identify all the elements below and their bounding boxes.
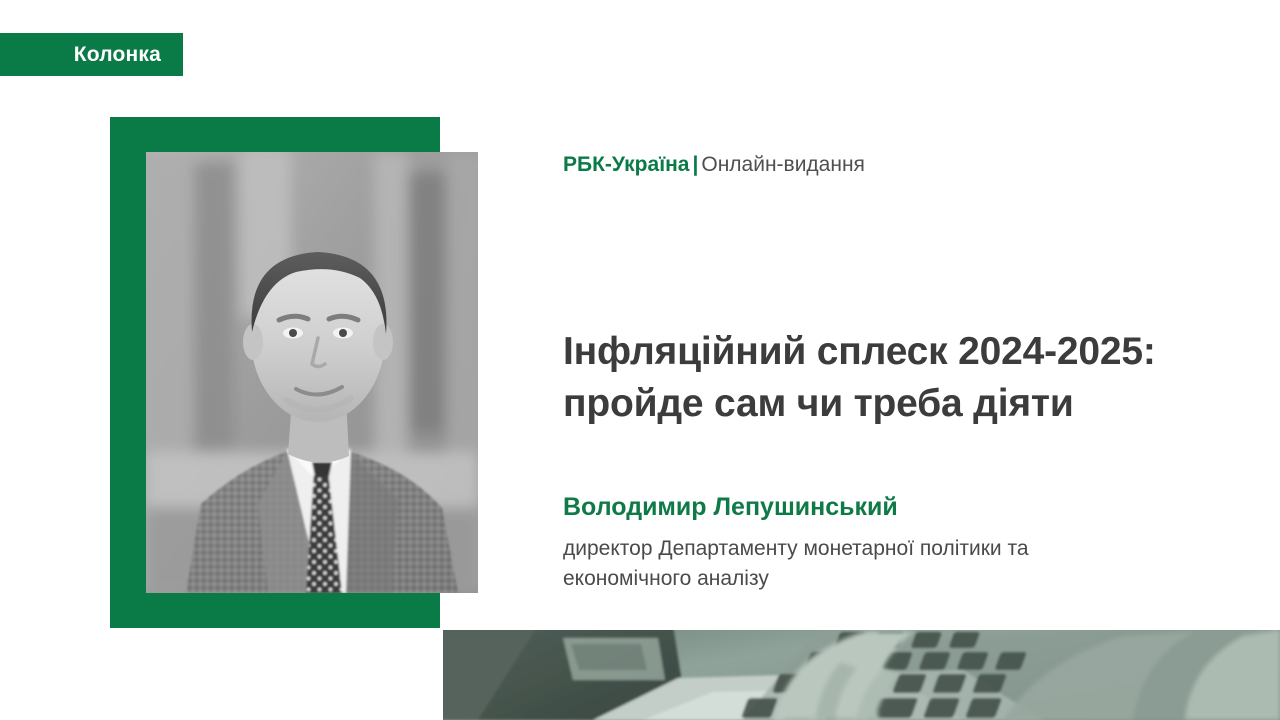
author-title: директор Департаменту монетарної політик… <box>563 534 1083 595</box>
category-badge-label: Колонка <box>74 44 161 65</box>
article-text-column: РБК-Україна|Онлайн-видання Інфляційний с… <box>563 0 1243 720</box>
publication-brand: РБК-Україна <box>563 153 689 176</box>
kicker-separator: | <box>689 153 701 176</box>
article-headline: Інфляційний сплеск 2024-2025: пройде сам… <box>563 326 1223 430</box>
publication-outlet: Онлайн-видання <box>701 153 865 176</box>
publication-kicker: РБК-Україна|Онлайн-видання <box>563 152 865 177</box>
laptop-keyboard-photo <box>443 630 1280 720</box>
category-badge: Колонка <box>0 33 183 76</box>
portrait-photo <box>146 152 478 593</box>
author-name: Володимир Лепушинський <box>563 492 898 522</box>
